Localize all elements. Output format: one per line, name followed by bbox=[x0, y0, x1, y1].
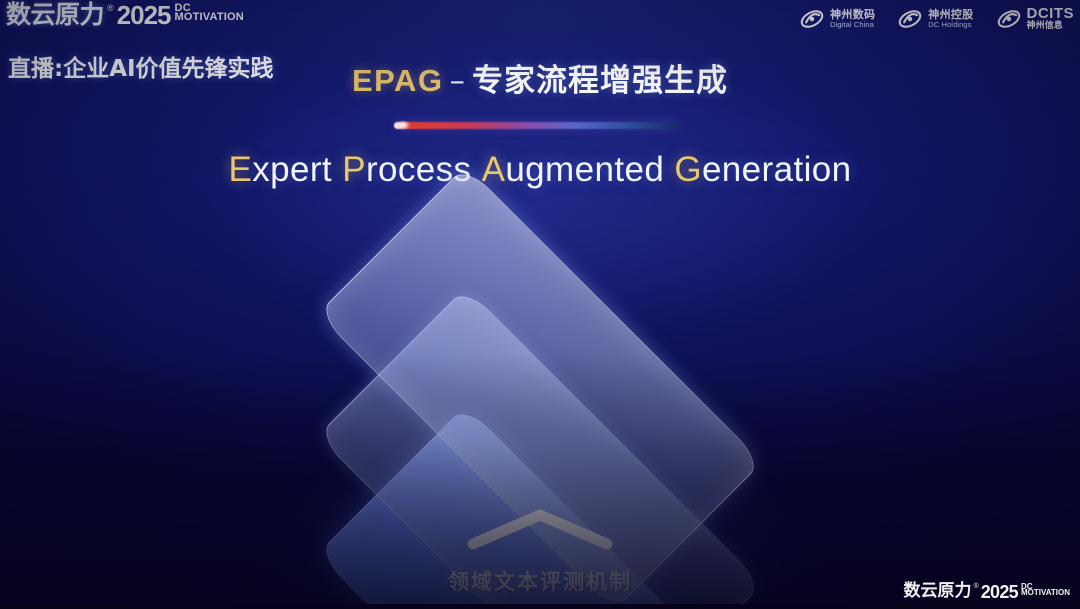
partner-label: 神州控股 DC Holdings bbox=[928, 9, 973, 28]
subtitle-rest-generation: eneration bbox=[702, 150, 852, 189]
title-acronym: EPAG bbox=[352, 63, 444, 98]
title-divider bbox=[394, 122, 679, 129]
brand-logo: 数云原力 ® 2025 DC MOTIVATION bbox=[6, 2, 244, 28]
partner-logo-dc-holdings: 神州控股 DC Holdings bbox=[897, 6, 973, 32]
partner-name-cn: 神州信息 bbox=[1027, 22, 1075, 31]
watermark-registered-icon: ® bbox=[974, 583, 979, 590]
watermark-logo: 数云原力 ® 2025 DC MOTIVATION bbox=[904, 583, 1070, 601]
presentation-slide: 数云原力 ® 2025 DC MOTIVATION 直播:企业AI价值先锋实践 … bbox=[0, 0, 1080, 609]
subtitle-cap-p: P bbox=[342, 150, 366, 189]
swirl-logo-icon bbox=[996, 6, 1022, 32]
partner-name-en: Digital China bbox=[830, 21, 875, 29]
subtitle-rest-expert: xpert bbox=[252, 150, 332, 189]
slide-title: EPAG–专家流程增强生成 bbox=[0, 55, 1080, 100]
chevron-up-icon bbox=[465, 506, 615, 552]
title-chinese: 专家流程增强生成 bbox=[472, 63, 728, 99]
partner-name-en: DCITS bbox=[1027, 6, 1075, 22]
partner-logo-dcits: DCITS 神州信息 bbox=[996, 6, 1075, 32]
brand-logo-chinese: 数云原力 bbox=[6, 2, 104, 27]
subtitle-rest-augmented: ugmented bbox=[505, 150, 664, 189]
bottom-edge-bar bbox=[0, 604, 1080, 609]
diagram-layer-top-label: 领域文本评测机制 bbox=[448, 566, 632, 596]
brand-logo-dcm: DC MOTIVATION bbox=[175, 3, 244, 23]
brand-logo-year: 2025 bbox=[117, 2, 171, 28]
partner-logo-digital-china: 神州数码 Digital China bbox=[799, 6, 875, 32]
swirl-logo-icon bbox=[897, 6, 923, 32]
watermark-year: 2025 bbox=[981, 583, 1018, 601]
subtitle-cap-g: G bbox=[674, 150, 702, 189]
brand-logo-motivation: MOTIVATION bbox=[175, 12, 244, 23]
subtitle-cap-a: A bbox=[482, 150, 506, 189]
partner-name-en: DC Holdings bbox=[928, 21, 973, 29]
swirl-logo-icon bbox=[799, 6, 825, 32]
partner-label: DCITS 神州信息 bbox=[1027, 6, 1075, 31]
watermark-dcm: DC MOTIVATION bbox=[1021, 583, 1070, 597]
partner-label: 神州数码 Digital China bbox=[830, 9, 875, 28]
layered-architecture-diagram: 领域文本评测机制 Dynamic MOE 长文本记忆 三类语义建模模块 bbox=[260, 236, 820, 566]
slide-subtitle: Expert Process Augmented Generation bbox=[0, 150, 1080, 190]
watermark-chinese: 数云原力 bbox=[904, 583, 972, 600]
partner-logos: 神州数码 Digital China 神州控股 DC Holdings bbox=[799, 6, 1074, 32]
title-dash: – bbox=[450, 63, 467, 99]
subtitle-cap-e: E bbox=[229, 150, 253, 189]
registered-mark-icon: ® bbox=[107, 3, 114, 13]
watermark-motivation: MOTIVATION bbox=[1021, 589, 1070, 597]
